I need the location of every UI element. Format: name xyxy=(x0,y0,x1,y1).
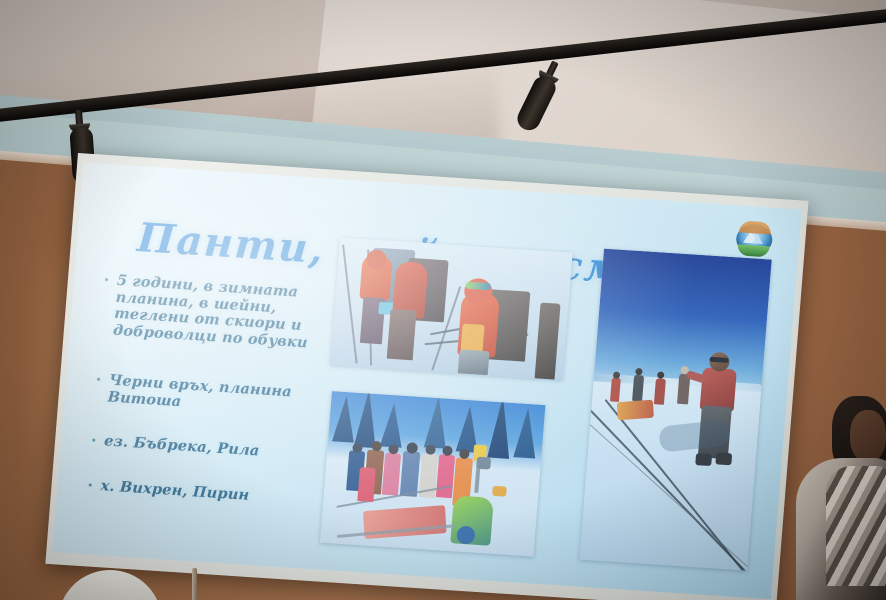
gear-bag xyxy=(492,486,507,497)
snowfield xyxy=(579,379,761,570)
person-distant xyxy=(654,378,666,405)
photo-snow-ridge-team xyxy=(579,249,771,571)
projection-screen: Панти, шейни, усмивки 5 години, в зимнат… xyxy=(45,153,808,600)
hiker-legs xyxy=(458,349,490,375)
boot xyxy=(715,452,732,465)
tree xyxy=(513,407,539,458)
bullet-item: ез. Бъбрека, Рила xyxy=(89,432,322,464)
person xyxy=(357,467,376,502)
photo-group-with-sled xyxy=(320,391,546,557)
bullet-item: 5 години, в зимната планина, в шейни, те… xyxy=(97,272,334,353)
presentation-slide: Панти, шейни, усмивки 5 години, в зимнат… xyxy=(52,162,802,599)
bullet-item: х. Вихрен, Пирин xyxy=(85,477,318,509)
room-scene: Панти, шейни, усмивки 5 години, в зимнат… xyxy=(0,0,886,600)
hiker-legs xyxy=(387,309,417,361)
tree xyxy=(380,402,405,447)
boot xyxy=(695,453,712,466)
hiker-vest xyxy=(460,324,484,353)
bullet-item: Черни връх, планина Витоша xyxy=(92,372,326,420)
person-face xyxy=(850,410,886,462)
slide-bullet-list: 5 години, в зимната планина, в шейни, те… xyxy=(83,272,334,536)
logo-green-base xyxy=(737,244,770,257)
person xyxy=(400,451,421,497)
sign-plate xyxy=(476,457,491,470)
audience-member xyxy=(796,396,886,600)
photo-hikers-red-jackets xyxy=(330,237,573,380)
person-scarf xyxy=(826,466,886,586)
rescue-sled xyxy=(617,400,654,421)
person-distant xyxy=(632,375,644,402)
spotlight-left xyxy=(68,109,90,132)
tree xyxy=(354,391,381,448)
logo-mountain-peak-secondary-icon xyxy=(752,234,764,244)
person xyxy=(382,453,401,496)
organization-logo xyxy=(732,219,777,262)
person-distant xyxy=(610,377,621,402)
tree xyxy=(424,395,450,448)
logo-text-arc xyxy=(739,220,772,234)
foreground-post xyxy=(192,568,197,600)
